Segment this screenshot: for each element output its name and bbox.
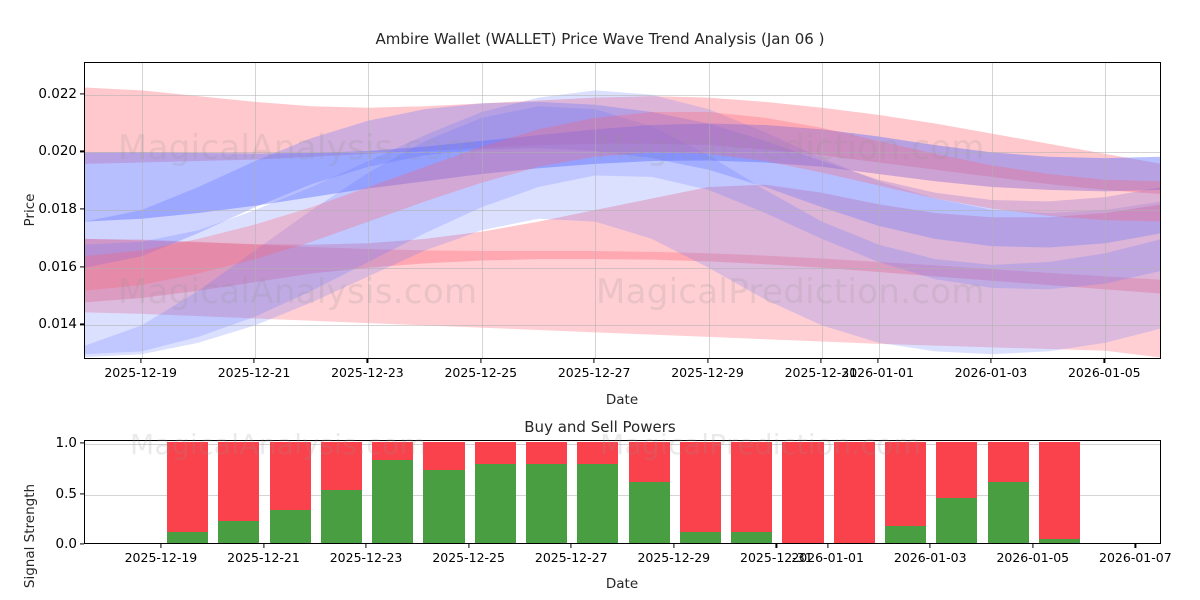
gridline-vertical [368,63,369,358]
buysell-xtick-mark [776,544,777,548]
sell-power-segment[interactable] [936,442,977,498]
price-xaxis-label: Date [606,392,638,408]
gridline-vertical [709,63,710,358]
buy-power-segment[interactable] [629,482,670,543]
buysell-xtick-mark [160,544,161,548]
price-ytick-mark [80,324,84,325]
gridline-vertical [595,63,596,358]
price-xtick-mark [820,359,821,363]
signal-bar[interactable] [1039,442,1080,543]
price-xtick-mark [367,359,368,363]
price-ytick-label: 0.014 [38,316,84,332]
sell-power-segment[interactable] [577,442,618,464]
buy-power-segment[interactable] [526,464,567,543]
price-plot-area [85,63,1160,358]
signal-bar[interactable] [782,442,823,543]
gridline-horizontal [85,210,1160,211]
buysell-xtick-mark [365,544,366,548]
buy-power-segment[interactable] [372,460,413,543]
gridline-vertical [822,63,823,358]
gridline-horizontal [85,268,1160,269]
price-yaxis-label: Price [22,194,38,227]
sell-power-segment[interactable] [321,442,362,489]
buysell-xtick-mark [1135,544,1136,548]
price-xtick-mark [877,359,878,363]
sell-power-segment[interactable] [475,442,516,464]
price-ytick-mark [80,93,84,94]
gridline-vertical [142,63,143,358]
price-xtick-mark [707,359,708,363]
signal-bar[interactable] [167,442,208,543]
gridline-vertical [1105,63,1106,358]
price-ytick-label: 0.022 [38,86,84,102]
signal-bar[interactable] [218,442,259,543]
signal-bar[interactable] [321,442,362,543]
sell-power-segment[interactable] [526,442,567,464]
buy-sell-plot-area [85,441,1160,543]
signal-bar[interactable] [680,442,721,543]
sell-power-segment[interactable] [782,442,823,543]
signal-bar[interactable] [834,442,875,543]
sell-power-segment[interactable] [270,442,311,510]
buy-sell-powers-chart [84,440,1161,544]
buysell-yaxis-label: Signal Strength [22,484,38,588]
buy-power-segment[interactable] [577,464,618,543]
signal-bar[interactable] [475,442,516,543]
buy-power-segment[interactable] [988,482,1029,543]
sell-power-segment[interactable] [885,442,926,526]
sell-power-segment[interactable] [1039,442,1080,539]
buy-power-segment[interactable] [218,521,259,543]
buy-power-segment[interactable] [270,510,311,543]
price-xtick-mark [1104,359,1105,363]
price-xtick-mark [140,359,141,363]
sell-power-segment[interactable] [218,442,259,521]
gridline-horizontal [85,95,1160,96]
buysell-xaxis-label: Date [606,576,638,592]
signal-bar[interactable] [270,442,311,543]
gridline-vertical [255,63,256,358]
signal-bar[interactable] [629,442,670,543]
buy-power-segment[interactable] [423,470,464,543]
buysell-ytick-mark [80,543,84,544]
price-ytick-mark [80,151,84,152]
buysell-ytick-mark [80,493,84,494]
buysell-ytick-mark [80,442,84,443]
buysell-chart-title: Buy and Sell Powers [0,418,1200,436]
price-ytick-label: 0.020 [38,143,84,159]
sell-power-segment[interactable] [372,442,413,460]
buysell-xtick-mark [1032,544,1033,548]
price-wave-chart [84,62,1161,359]
gridline-horizontal [85,152,1160,153]
price-ytick-label: 0.016 [38,259,84,275]
buy-power-segment[interactable] [167,532,208,543]
sell-power-segment[interactable] [423,442,464,470]
buy-power-segment[interactable] [936,498,977,543]
buysell-xtick-mark [571,544,572,548]
sell-power-segment[interactable] [834,442,875,543]
buy-power-segment[interactable] [1039,539,1080,543]
sell-power-segment[interactable] [988,442,1029,482]
buysell-xtick-mark [930,544,931,548]
price-xtick-mark [990,359,991,363]
signal-bar[interactable] [885,442,926,543]
sell-power-segment[interactable] [731,442,772,532]
buy-power-segment[interactable] [680,532,721,543]
signal-bar[interactable] [577,442,618,543]
gridline-vertical [992,63,993,358]
signal-bar[interactable] [988,442,1029,543]
signal-bar[interactable] [372,442,413,543]
price-xtick-mark [594,359,595,363]
buysell-xtick-mark [673,544,674,548]
buy-power-segment[interactable] [475,464,516,543]
price-ytick-mark [80,208,84,209]
buysell-xtick-mark [468,544,469,548]
signal-bar[interactable] [731,442,772,543]
price-xtick-mark [480,359,481,363]
gridline-vertical [482,63,483,358]
buy-power-segment[interactable] [731,532,772,543]
buy-power-segment[interactable] [321,490,362,544]
signal-bar[interactable] [526,442,567,543]
gridline-vertical [879,63,880,358]
sell-power-segment[interactable] [167,442,208,532]
signal-bar[interactable] [936,442,977,543]
price-xtick-mark [253,359,254,363]
figure-title-line1: Ambire Wallet (WALLET) Price Wave Trend … [0,29,1200,50]
buy-power-segment[interactable] [885,526,926,543]
gridline-horizontal [85,325,1160,326]
signal-bar[interactable] [423,442,464,543]
sell-power-segment[interactable] [629,442,670,482]
price-ytick-label: 0.018 [38,201,84,217]
buysell-xtick-mark [263,544,264,548]
sell-power-segment[interactable] [680,442,721,532]
price-ytick-mark [80,266,84,267]
buysell-xtick-mark [827,544,828,548]
figure-canvas: Ambire Wallet (WALLET) Price Wave Trend … [0,0,1200,600]
